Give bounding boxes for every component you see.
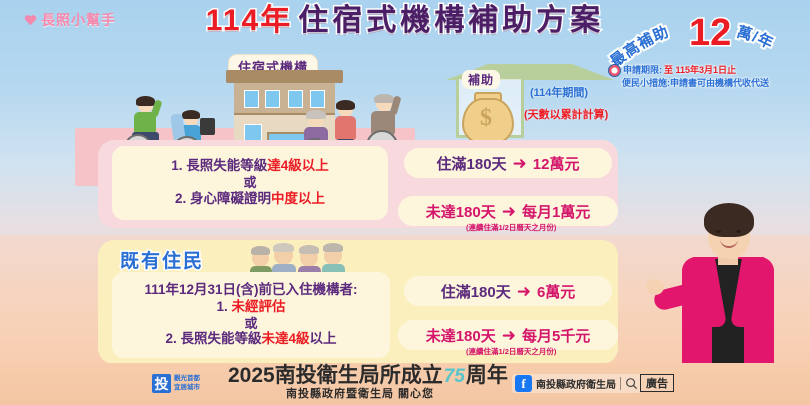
convenience-note: 便民小措施:申請書可由機構代收代送 (622, 77, 804, 90)
logo-subtext: 觀光首都 宜居城市 (174, 375, 200, 391)
max-subsidy-suffix: 萬/年 (735, 23, 777, 53)
title-year: 114年 (206, 4, 292, 37)
s1-l1-highlight: 達4級以上 (267, 158, 329, 173)
s2-a-value: 6萬元 (537, 281, 575, 302)
max-subsidy-amount: 12 (689, 14, 731, 52)
ad-label-button[interactable]: 廣告 (640, 374, 674, 392)
deadline-block: 申請期限: 至 115年3月1日止 便民小措施:申請書可由機構代收代送 (608, 64, 804, 90)
s2-a-condition: 住滿180天 (441, 281, 511, 302)
footer-subline: 南投縣政府暨衛生局 關心您 (286, 385, 434, 401)
s1-b-value: 每月1萬元 (522, 201, 590, 222)
section1-criteria-box: 1. 長照失能等級達4級以上 或 2. 身心障礙證明中度以上 (112, 146, 388, 220)
facebook-chip[interactable]: f 南投縣政府衛生局 (512, 374, 641, 393)
divider (620, 377, 621, 390)
footer-headline-post: 周年 (466, 364, 508, 387)
section1-criteria-or: 或 (243, 175, 256, 191)
subsidy-money-illustration: 補助 $ (114年期間) (天數以累計計算) (438, 62, 618, 150)
s1-a-value: 12萬元 (533, 153, 580, 174)
search-icon[interactable] (625, 377, 638, 390)
days-note: (天數以累計計算) (524, 106, 608, 122)
s1-l2-prefix: 2. 身心障礙證明 (175, 191, 271, 206)
deadline-value: 至 115年3月1日止 (664, 64, 736, 77)
arrow-right-icon: ➜ (517, 283, 531, 300)
s1-l2-highlight: 中度以上 (271, 191, 325, 206)
s2-b-condition: 未達180天 (426, 325, 496, 346)
section2-criteria-line2: 2. 長照失能等級未達4級以上 (165, 331, 336, 348)
subsidy-badge: 補助 (462, 70, 500, 89)
section1-partial-note: (連續住滿1/2日曆天之月份) (466, 222, 556, 233)
logo-mark: 投 (152, 374, 171, 393)
footer-headline-pre: 2025南投衛生局所成立 (228, 364, 443, 387)
period-note: (114年期間) (530, 84, 588, 100)
title-rest: 住宿式機構補助方案 (298, 4, 604, 37)
s2-l2-prefix: 2. 長照失能等級 (165, 331, 261, 346)
arrow-right-icon: ➜ (502, 327, 516, 344)
logo-sub-line1: 觀光首都 (174, 375, 200, 383)
section2-criteria-intro: 111年12月31日(含)前已入住機構者: (144, 282, 357, 299)
s2-l1-highlight: 未經評估 (232, 299, 286, 314)
dollar-sign: $ (462, 106, 510, 130)
section1-criteria-line2: 2. 身心障礙證明中度以上 (175, 191, 325, 208)
arrow-right-icon: ➜ (502, 203, 516, 220)
facebook-page-name: 南投縣政府衛生局 (536, 376, 616, 391)
logo-sub-line2: 宜居城市 (174, 384, 200, 392)
deadline-label: 申請期限: (623, 64, 662, 77)
section1-amount-full: 住滿180天 ➜ 12萬元 (404, 148, 612, 178)
s2-l2-highlight: 未達4級 (262, 331, 310, 346)
section2-heading: 既有住民 (120, 246, 204, 273)
s2-l2-suffix: 以上 (310, 331, 337, 346)
section2-criteria-or: 或 (244, 316, 257, 332)
s1-b-condition: 未達180天 (426, 201, 496, 222)
section2-criteria-box: 111年12月31日(含)前已入住機構者: 1. 未經評估 或 2. 長照失能等… (112, 272, 390, 358)
facebook-icon[interactable]: f (515, 375, 532, 392)
s2-b-value: 每月5千元 (522, 325, 590, 346)
s1-a-condition: 住滿180天 (437, 153, 507, 174)
section2-amount-full: 住滿180天 ➜ 6萬元 (404, 276, 612, 306)
deadline-row: 申請期限: 至 115年3月1日止 (608, 64, 804, 77)
footer-anniv-number: 75 (444, 366, 465, 387)
spokesperson-photo (652, 195, 802, 365)
s1-l1-prefix: 1. 長照失能等級 (171, 158, 267, 173)
arrow-right-icon: ➜ (513, 155, 527, 172)
nantou-logo: 投 觀光首都 宜居城市 (152, 374, 200, 393)
poster-root: 長照小幫手 114年住宿式機構補助方案 最高補助 萬/年 12 申請期限: 至 … (0, 0, 810, 405)
section1-criteria-line1: 1. 長照失能等級達4級以上 (171, 158, 329, 175)
section2-criteria-line1: 1. 未經評估 (216, 299, 285, 316)
section2-partial-note: (連續住滿1/2日曆天之月份) (466, 346, 556, 357)
s2-l1-prefix: 1. (216, 299, 231, 314)
